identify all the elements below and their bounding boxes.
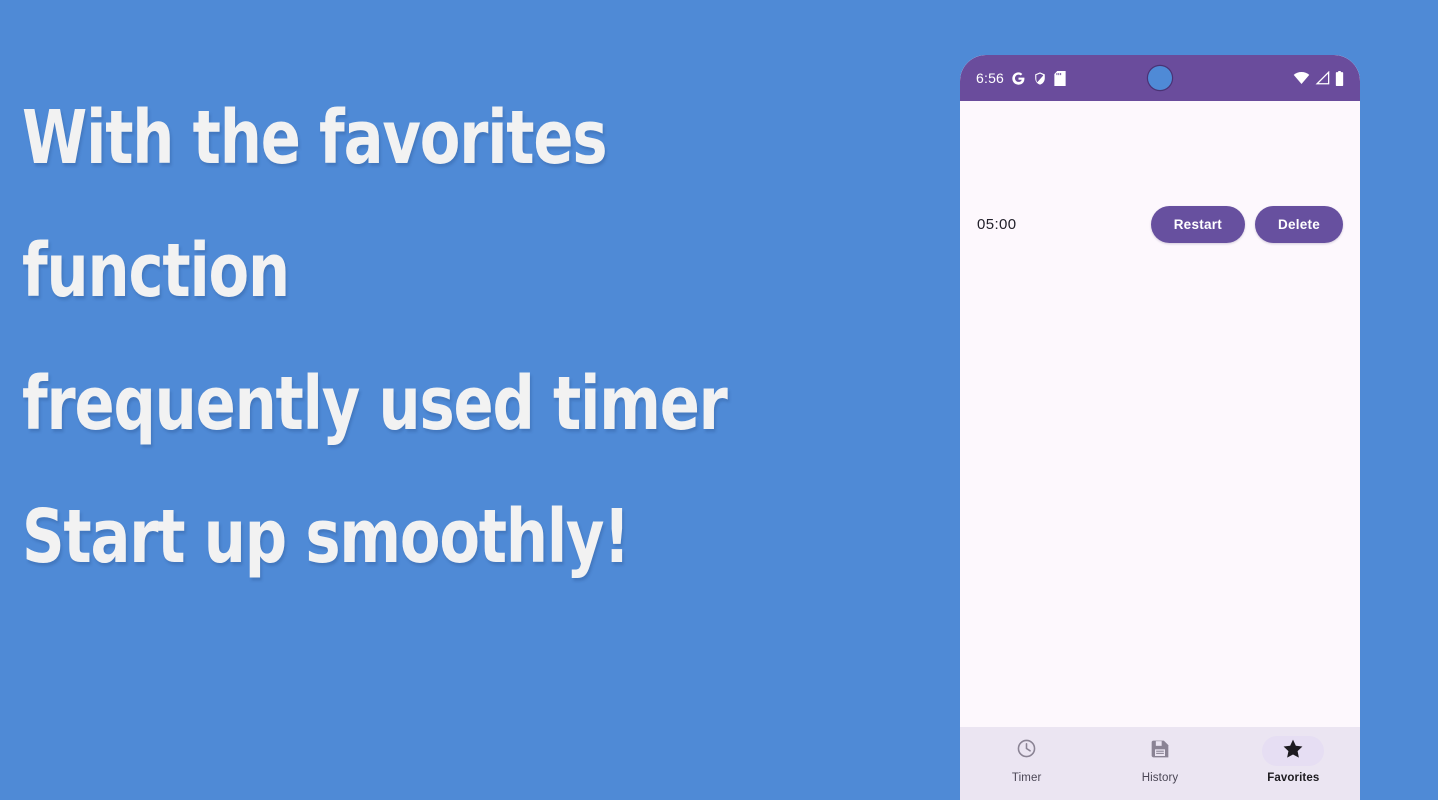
sd-card-icon xyxy=(1054,71,1066,86)
clock-icon xyxy=(1016,738,1037,764)
list-item: 05:00 Restart Delete xyxy=(960,201,1360,247)
promo-screenshot: With the favorites function frequently u… xyxy=(0,0,1438,800)
status-bar-left-group: 6:56 xyxy=(976,70,1066,86)
promo-line-2: function xyxy=(22,205,742,338)
nav-pill-timer xyxy=(996,736,1058,766)
cellular-signal-icon xyxy=(1315,71,1330,85)
wifi-icon xyxy=(1293,71,1310,85)
nav-item-timer[interactable]: Timer xyxy=(960,736,1093,784)
phone-mockup: 6:56 xyxy=(960,55,1360,800)
google-g-icon xyxy=(1011,71,1026,86)
status-bar-right-group xyxy=(1293,71,1344,86)
timer-row-actions: Restart Delete xyxy=(1151,206,1343,243)
nav-pill-favorites xyxy=(1262,736,1324,766)
restart-button[interactable]: Restart xyxy=(1151,206,1245,243)
bottom-navigation-bar: Timer Hi xyxy=(960,727,1360,800)
star-filled-icon xyxy=(1282,738,1304,765)
phone-screen: 6:56 xyxy=(960,55,1360,800)
nav-item-favorites[interactable]: Favorites xyxy=(1227,736,1360,784)
nav-label-history: History xyxy=(1142,772,1178,784)
status-clock: 6:56 xyxy=(976,70,1004,86)
nav-pill-history xyxy=(1129,736,1191,766)
battery-icon xyxy=(1335,71,1344,86)
promo-line-3: frequently used timer xyxy=(22,338,742,471)
promo-line-1: With the favorites xyxy=(22,72,742,205)
save-floppy-icon xyxy=(1150,739,1170,764)
promo-headline: With the favorites function frequently u… xyxy=(22,72,922,604)
promo-line-4: Start up smoothly! xyxy=(22,471,742,604)
nav-label-timer: Timer xyxy=(1012,772,1041,784)
timer-duration: 05:00 xyxy=(977,216,1017,233)
nav-label-favorites: Favorites xyxy=(1267,772,1319,784)
camera-punch-hole-icon xyxy=(1148,66,1172,90)
delete-button[interactable]: Delete xyxy=(1255,206,1343,243)
shield-icon xyxy=(1033,71,1047,86)
nav-item-history[interactable]: History xyxy=(1093,736,1226,784)
favorites-timer-list: 05:00 Restart Delete xyxy=(960,101,1360,727)
